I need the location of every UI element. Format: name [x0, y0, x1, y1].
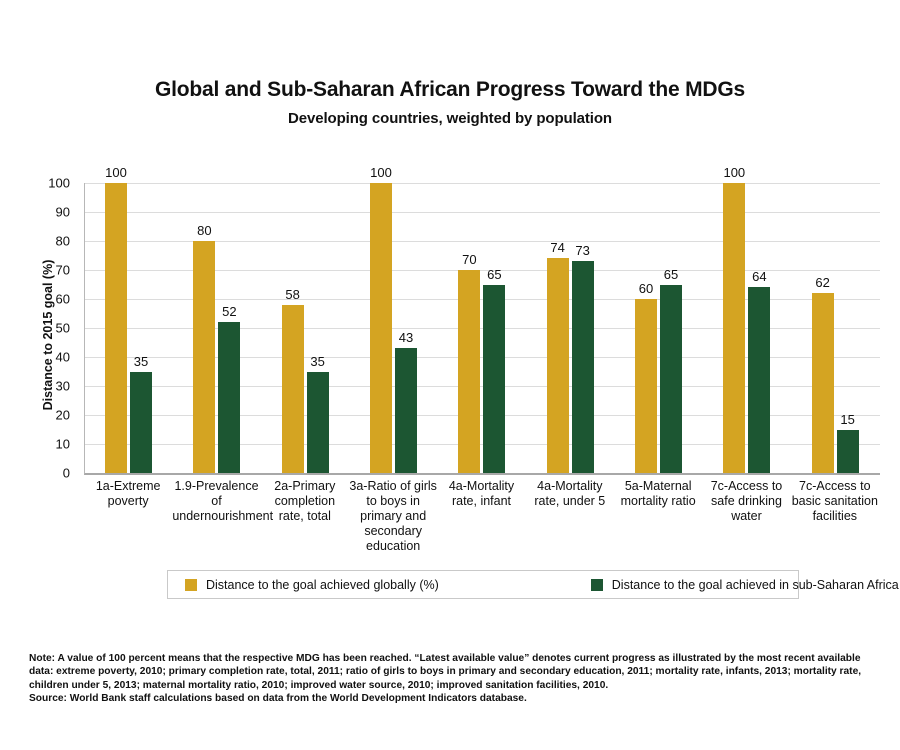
- y-tick-label: 90: [56, 205, 70, 220]
- y-tick-label: 50: [56, 321, 70, 336]
- bar-value-label: 64: [739, 269, 779, 284]
- bar[interactable]: [572, 261, 594, 473]
- bar-group: 10043: [349, 183, 437, 473]
- bar[interactable]: [307, 372, 329, 474]
- y-tick-label: 80: [56, 234, 70, 249]
- legend-label: Distance to the goal achieved globally (…: [206, 578, 439, 592]
- bar-series-layer: 100358052583510043706574736065100646215: [84, 183, 879, 473]
- footnote-line: Note: A value of 100 percent means that …: [29, 652, 884, 665]
- bar-value-label: 65: [651, 267, 691, 282]
- bar-value-label: 62: [803, 275, 843, 290]
- bar[interactable]: [483, 285, 505, 474]
- x-tick-label: 2a-Primary completion rate, total: [261, 479, 349, 524]
- bar-value-label: 100: [96, 165, 136, 180]
- bar-value-label: 35: [298, 354, 338, 369]
- bar-value-label: 70: [449, 252, 489, 267]
- bar-value-label: 73: [563, 243, 603, 258]
- x-tick-label: 5a-Maternal mortality ratio: [614, 479, 702, 509]
- bar-group: 10064: [702, 183, 790, 473]
- bar[interactable]: [130, 372, 152, 474]
- chart-legend: Distance to the goal achieved globally (…: [167, 570, 799, 599]
- bar-group: 6215: [791, 183, 879, 473]
- bar[interactable]: [395, 348, 417, 473]
- footnote-line: children under 5, 2013; maternal mortali…: [29, 679, 884, 692]
- bar-value-label: 80: [184, 223, 224, 238]
- bar-value-label: 100: [714, 165, 754, 180]
- legend-item[interactable]: Distance to the goal achieved in sub-Sah…: [591, 578, 900, 592]
- bar[interactable]: [837, 430, 859, 474]
- bar[interactable]: [218, 322, 240, 473]
- y-tick-label: 10: [56, 437, 70, 452]
- bar-value-label: 35: [121, 354, 161, 369]
- x-tick-label: 1.9-Prevalence of undernourishment: [172, 479, 260, 524]
- bar[interactable]: [105, 183, 127, 473]
- bar-value-label: 52: [209, 304, 249, 319]
- bar[interactable]: [812, 293, 834, 473]
- x-tick-label: 1a-Extreme poverty: [84, 479, 172, 509]
- bar-value-label: 58: [273, 287, 313, 302]
- x-tick-label: 7c-Access to safe drinking water: [702, 479, 790, 524]
- bar-group: 7065: [437, 183, 525, 473]
- bar[interactable]: [370, 183, 392, 473]
- bar-group: 10035: [84, 183, 172, 473]
- bar-value-label: 65: [474, 267, 514, 282]
- bar-group: 7473: [526, 183, 614, 473]
- x-axis-tick-labels: 1a-Extreme poverty1.9-Prevalence of unde…: [84, 479, 879, 569]
- bar-group: 8052: [172, 183, 260, 473]
- page-title: Global and Sub-Saharan African Progress …: [0, 78, 900, 102]
- y-tick-label: 100: [48, 176, 70, 191]
- bar[interactable]: [723, 183, 745, 473]
- chart-subtitle: Developing countries, weighted by popula…: [0, 110, 900, 127]
- y-tick-label: 70: [56, 263, 70, 278]
- y-tick-label: 0: [63, 466, 70, 481]
- footnote-line: Source: World Bank staff calculations ba…: [29, 692, 884, 705]
- y-axis-tick-labels: 1009080706050403020100: [0, 183, 78, 473]
- legend-swatch-icon: [185, 579, 197, 591]
- bar[interactable]: [282, 305, 304, 473]
- y-tick-label: 30: [56, 379, 70, 394]
- footnote: Note: A value of 100 percent means that …: [29, 652, 884, 705]
- bar[interactable]: [635, 299, 657, 473]
- legend-label: Distance to the goal achieved in sub-Sah…: [612, 578, 900, 592]
- bar[interactable]: [193, 241, 215, 473]
- x-tick-label: 3a-Ratio of girls to boys in primary and…: [349, 479, 437, 554]
- footnote-line: data: extreme poverty, 2010; primary com…: [29, 665, 884, 678]
- bar[interactable]: [748, 287, 770, 473]
- legend-item[interactable]: Distance to the goal achieved globally (…: [185, 578, 439, 592]
- bar[interactable]: [660, 285, 682, 474]
- bar-group: 5835: [261, 183, 349, 473]
- x-tick-label: 7c-Access to basic sanitation facilities: [791, 479, 879, 524]
- bar-value-label: 100: [361, 165, 401, 180]
- y-tick-label: 40: [56, 350, 70, 365]
- y-tick-label: 20: [56, 408, 70, 423]
- bar[interactable]: [547, 258, 569, 473]
- legend-swatch-icon: [591, 579, 603, 591]
- x-tick-label: 4a-Mortality rate, under 5: [526, 479, 614, 509]
- x-tick-label: 4a-Mortality rate, infant: [437, 479, 525, 509]
- bar-value-label: 43: [386, 330, 426, 345]
- y-tick-label: 60: [56, 292, 70, 307]
- bar[interactable]: [458, 270, 480, 473]
- bar-group: 6065: [614, 183, 702, 473]
- bar-value-label: 15: [828, 412, 868, 427]
